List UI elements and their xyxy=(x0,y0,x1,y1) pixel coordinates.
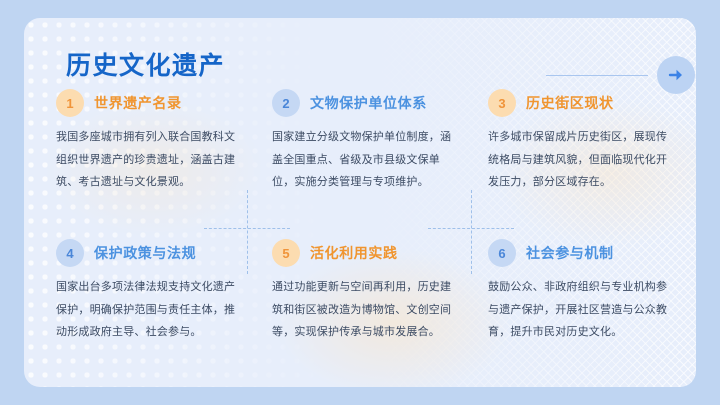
list-item: 6 社会参与机制 鼓励公众、非政府组织与专业机构参与遗产保护，开展社区营造与公众… xyxy=(478,236,686,376)
list-item: 5 活化利用实践 通过功能更新与空间再利用，历史建筑和街区被改造为博物馆、文创空… xyxy=(262,236,470,376)
item-header: 3 历史街区现状 xyxy=(488,86,676,120)
item-title: 历史街区现状 xyxy=(526,93,614,113)
item-number-badge: 4 xyxy=(56,239,84,267)
header-divider-line xyxy=(546,75,648,76)
list-item: 3 历史街区现状 许多城市保留成片历史街区，展现传统格局与建筑风貌，但面临现代化… xyxy=(478,86,686,226)
item-number-badge: 3 xyxy=(488,89,516,117)
item-number-badge: 6 xyxy=(488,239,516,267)
item-body-text: 国家出台多项法律法规支持文化遗产保护，明确保护范围与责任主体，推动形成政府主导、… xyxy=(56,276,244,344)
slide-root: 历史文化遗产 1 世界遗产名录 我国多座城市拥有列入联合国教科文组织世界遗产的珍… xyxy=(0,0,720,405)
item-body-text: 国家建立分级文物保护单位制度，涵盖全国重点、省级及市县级文保单位，实施分类管理与… xyxy=(272,126,460,194)
content-card: 历史文化遗产 1 世界遗产名录 我国多座城市拥有列入联合国教科文组织世界遗产的珍… xyxy=(24,18,696,387)
item-title: 文物保护单位体系 xyxy=(310,93,427,113)
page-title: 历史文化遗产 xyxy=(66,54,225,79)
item-body-text: 我国多座城市拥有列入联合国教科文组织世界遗产的珍贵遗址，涵盖古建筑、考古遗址与文… xyxy=(56,126,244,194)
item-header: 5 活化利用实践 xyxy=(272,236,460,270)
item-number-badge: 5 xyxy=(272,239,300,267)
item-body-text: 通过功能更新与空间再利用，历史建筑和街区被改造为博物馆、文创空间等，实现保护传承… xyxy=(272,276,460,344)
item-title: 世界遗产名录 xyxy=(94,93,182,113)
item-title: 活化利用实践 xyxy=(310,243,398,263)
item-header: 2 文物保护单位体系 xyxy=(272,86,460,120)
item-header: 1 世界遗产名录 xyxy=(56,86,244,120)
item-body-text: 许多城市保留成片历史街区，展现传统格局与建筑风貌，但面临现代化开发压力，部分区域… xyxy=(488,126,676,194)
list-item: 4 保护政策与法规 国家出台多项法律法规支持文化遗产保护，明确保护范围与责任主体… xyxy=(46,236,254,376)
list-item: 2 文物保护单位体系 国家建立分级文物保护单位制度，涵盖全国重点、省级及市县级文… xyxy=(262,86,470,226)
item-header: 6 社会参与机制 xyxy=(488,236,676,270)
item-body-text: 鼓励公众、非政府组织与专业机构参与遗产保护，开展社区营造与公众教育，提升市民对历… xyxy=(488,276,676,344)
item-number-badge: 1 xyxy=(56,89,84,117)
item-number-badge: 2 xyxy=(272,89,300,117)
list-item: 1 世界遗产名录 我国多座城市拥有列入联合国教科文组织世界遗产的珍贵遗址，涵盖古… xyxy=(46,86,254,226)
item-title: 保护政策与法规 xyxy=(94,243,196,263)
items-grid: 1 世界遗产名录 我国多座城市拥有列入联合国教科文组织世界遗产的珍贵遗址，涵盖古… xyxy=(46,86,686,376)
item-title: 社会参与机制 xyxy=(526,243,614,263)
item-header: 4 保护政策与法规 xyxy=(56,236,244,270)
arrow-right-icon xyxy=(667,66,685,84)
